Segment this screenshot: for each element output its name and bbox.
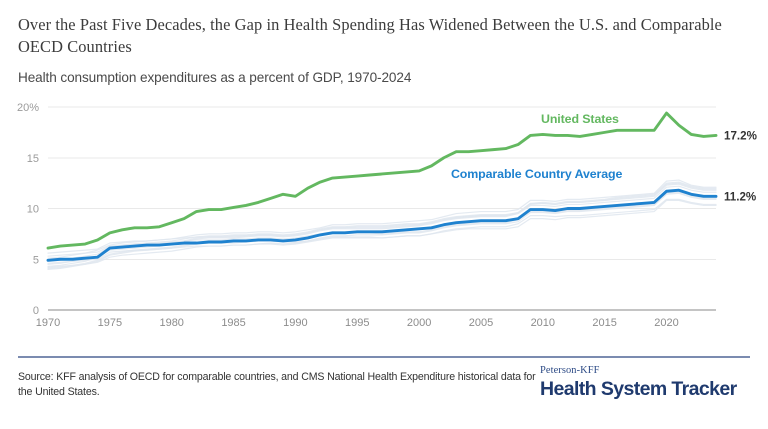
y-tick-label: 10 [27, 204, 39, 216]
x-axis-ticks: 1970197519801985199019952000200520102015… [36, 317, 679, 329]
brand-logo-top-text: Peterson-KFF [540, 365, 750, 377]
x-tick-label: 1975 [98, 317, 122, 329]
x-tick-label: 2005 [469, 317, 493, 329]
y-tick-label: 0 [33, 305, 39, 317]
source-note: Source: KFF analysis of OECD for compara… [18, 370, 548, 400]
x-tick-label: 1970 [36, 317, 60, 329]
x-tick-label: 1990 [283, 317, 307, 329]
chart-header: Over the Past Five Decades, the Gap in H… [18, 14, 748, 85]
chart-plot-area: 05101520% 197019751980198519901995200020… [0, 96, 768, 338]
page-title: Over the Past Five Decades, the Gap in H… [18, 14, 748, 58]
series-inline-label: Comparable Country Average [451, 167, 623, 181]
y-tick-label: 20% [17, 102, 39, 114]
x-tick-label: 2010 [531, 317, 555, 329]
x-tick-label: 1985 [221, 317, 245, 329]
footer-divider [18, 356, 750, 358]
brand-logo-main-text: Health System Tracker [540, 378, 750, 401]
y-tick-label: 5 [33, 254, 39, 266]
background-country-line [48, 183, 716, 266]
brand-logo[interactable]: Peterson-KFF Health System Tracker [540, 365, 750, 401]
series-inline-label: United States [541, 112, 619, 126]
x-tick-label: 2000 [407, 317, 431, 329]
line-chart-svg: 05101520% 197019751980198519901995200020… [0, 96, 768, 338]
series-inline-labels: United StatesComparable Country Average [451, 112, 623, 181]
chart-subtitle: Health consumption expenditures as a per… [18, 70, 748, 85]
chart-page: Over the Past Five Decades, the Gap in H… [0, 0, 768, 429]
y-axis-ticks: 05101520% [17, 102, 39, 317]
y-tick-label: 15 [27, 153, 39, 165]
background-country-lines [48, 180, 716, 269]
end-value-label: 11.2% [724, 190, 756, 203]
x-tick-label: 2020 [654, 317, 678, 329]
series-end-value-labels: 17.2%11.2% [724, 129, 757, 203]
x-tick-label: 1980 [159, 317, 183, 329]
x-tick-label: 1995 [345, 317, 369, 329]
x-tick-label: 2015 [592, 317, 616, 329]
end-value-label: 17.2% [724, 129, 757, 142]
